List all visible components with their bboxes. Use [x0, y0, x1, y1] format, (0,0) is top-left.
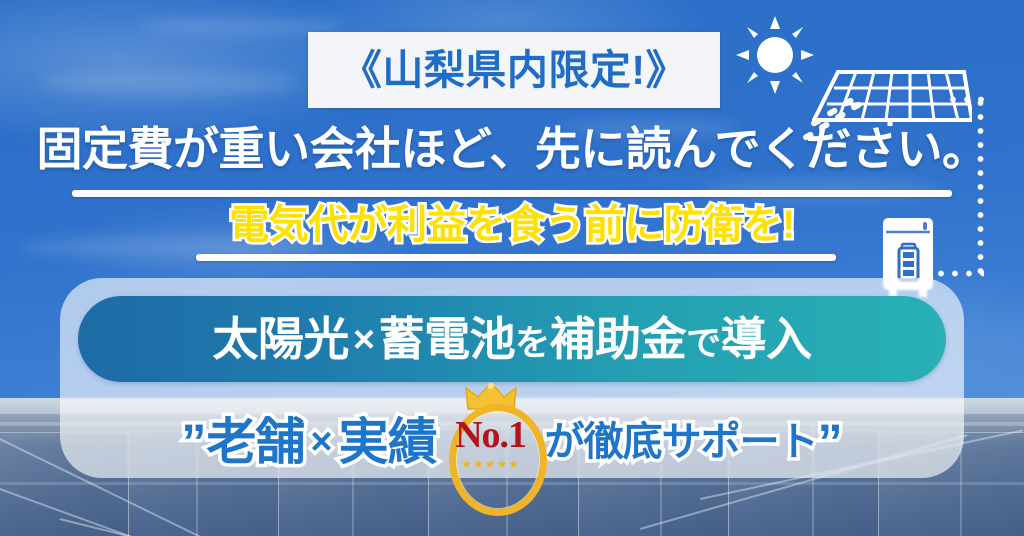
promotional-banner: 《山梨県内限定!》 固定費が重い会社ほど、先に読んでください。 電気代が利益を食…: [0, 0, 1024, 536]
sun-icon: [736, 16, 814, 94]
tagline-support: が徹底サポート: [545, 422, 818, 462]
tagline-track-record: 実績: [339, 417, 437, 467]
offer-term-solar: 太陽光: [212, 313, 349, 365]
dotted-connector-line: [934, 270, 984, 277]
rank-badge-stars: ★★★★★: [439, 458, 543, 470]
page-title: 固定費が重い会社ほど、先に読んでください。: [0, 124, 1024, 176]
cross-symbol: ×: [304, 421, 338, 464]
rank-no1-badge: No.1 ★★★★★: [439, 390, 543, 494]
quote-close: ”: [818, 413, 843, 471]
subheadline: 電気代が利益を食う前に防衛を!: [0, 203, 1024, 248]
offer-pill[interactable]: 太陽光×蓄電池を補助金で導入: [78, 296, 946, 382]
divider-secondary: [196, 254, 836, 261]
particle-wo: を: [515, 324, 550, 363]
rank-badge-label: No.1: [439, 416, 543, 454]
particle-de: で: [686, 324, 721, 363]
offer-pill-label: 太陽光×蓄電池を補助金で導入: [212, 316, 811, 362]
offer-term-introduce: 導入: [721, 313, 812, 365]
divider-primary: [72, 190, 952, 197]
offer-term-subsidy: 補助金: [550, 313, 687, 365]
cloud-wisp: [40, 70, 300, 96]
cross-symbol: ×: [349, 319, 379, 361]
quote-open: ”: [181, 413, 206, 471]
offer-term-battery: 蓄電池: [379, 313, 516, 365]
region-limit-badge-label: 《山梨県内限定!》: [341, 50, 687, 91]
region-limit-badge: 《山梨県内限定!》: [308, 32, 720, 108]
support-tagline: ” 老舗 × 実績 No.1 ★★★★★ が徹底サポート ”: [0, 402, 1024, 482]
tagline-established: 老舗: [206, 417, 304, 467]
